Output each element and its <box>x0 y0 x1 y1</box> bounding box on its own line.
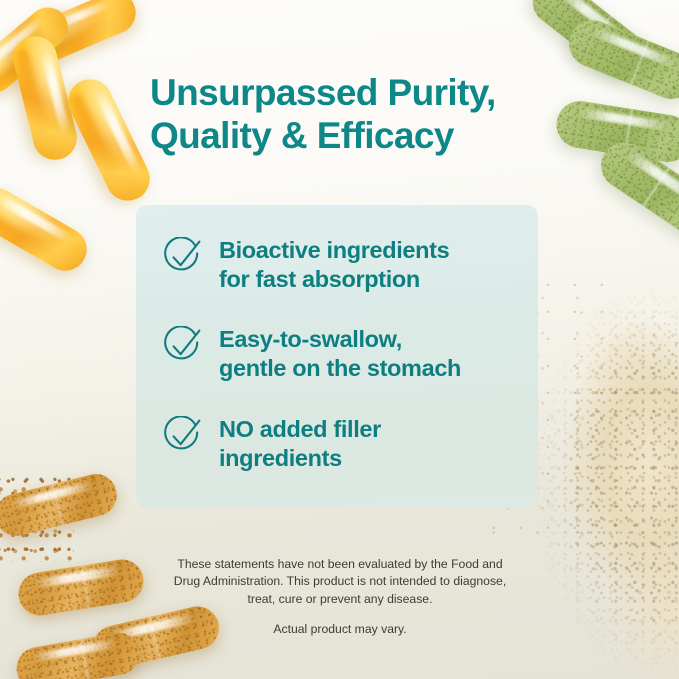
feature-card: Bioactive ingredients for fast absorptio… <box>136 205 538 508</box>
feature-line-2: gentle on the stomach <box>219 354 461 383</box>
headline-line-1: Unsurpassed Purity, <box>150 72 570 115</box>
feature-line-1: Easy-to-swallow, <box>219 325 461 354</box>
feature-text: Bioactive ingredients for fast absorptio… <box>219 235 449 294</box>
poster-content: Unsurpassed Purity, Quality & Efficacy B… <box>0 0 679 679</box>
disclaimer-line-3: treat, cure or prevent any disease. <box>118 591 562 608</box>
product-marketing-poster: Unsurpassed Purity, Quality & Efficacy B… <box>0 0 679 679</box>
fda-disclaimer: These statements have not been evaluated… <box>118 556 562 608</box>
list-item: NO added filler ingredients <box>162 414 522 473</box>
feature-line-2: for fast absorption <box>219 265 449 294</box>
list-item: Bioactive ingredients for fast absorptio… <box>162 235 522 294</box>
feature-text: NO added filler ingredients <box>219 414 381 473</box>
check-circle-icon <box>162 237 202 277</box>
disclaimer-line-1: These statements have not been evaluated… <box>118 556 562 573</box>
product-variance-note: Actual product may vary. <box>118 621 562 638</box>
feature-text: Easy-to-swallow, gentle on the stomach <box>219 324 461 383</box>
disclaimer-line-2: Drug Administration. This product is not… <box>118 573 562 590</box>
check-circle-icon <box>162 326 202 366</box>
list-item: Easy-to-swallow, gentle on the stomach <box>162 324 522 383</box>
page-title: Unsurpassed Purity, Quality & Efficacy <box>150 72 570 157</box>
feature-line-1: NO added filler <box>219 415 381 444</box>
feature-line-1: Bioactive ingredients <box>219 236 449 265</box>
feature-list: Bioactive ingredients for fast absorptio… <box>162 235 522 473</box>
feature-line-2: ingredients <box>219 444 381 473</box>
headline-line-2: Quality & Efficacy <box>150 115 570 158</box>
check-circle-icon <box>162 416 202 456</box>
